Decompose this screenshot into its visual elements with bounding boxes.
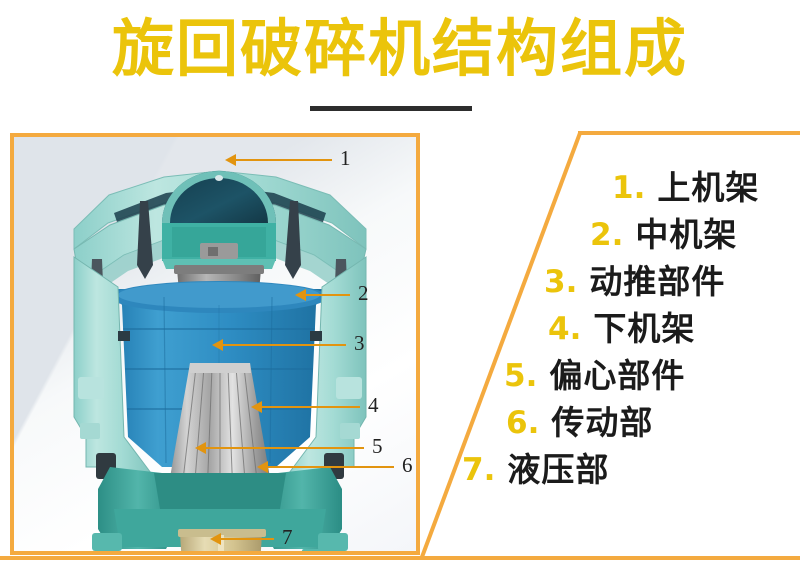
title-underline: [310, 106, 472, 111]
list-item: 2.中机架: [440, 213, 785, 260]
callout-leader-line: [268, 466, 394, 468]
callout-number: 7: [282, 525, 293, 549]
callout-number: 4: [368, 393, 379, 417]
list-item: 7.液压部: [440, 448, 785, 495]
list-item-label: 中机架: [635, 213, 737, 257]
callout-arrow-icon: [225, 154, 236, 166]
list-item: 6.传动部: [440, 401, 785, 448]
callout-leader-line: [306, 294, 350, 296]
decor-bottom-line: [0, 556, 800, 560]
callout-leader-line: [223, 344, 346, 346]
list-item: 3.动推部件: [440, 260, 785, 307]
list-item-label: 液压部: [507, 448, 609, 492]
list-item: 4.下机架: [440, 307, 785, 354]
decor-top-line: [578, 131, 800, 135]
callout-leader-line: [236, 159, 332, 161]
callout-number: 3: [354, 331, 365, 355]
callout-number: 6: [402, 453, 413, 477]
list-item-number: 5.: [504, 354, 537, 398]
callout-arrow-icon: [195, 442, 206, 454]
callout-arrow-icon: [210, 533, 221, 545]
list-item-number: 6.: [506, 401, 539, 445]
callout-leader-line: [262, 406, 360, 408]
list-item: 1.上机架: [440, 166, 785, 213]
callout-number: 1: [340, 146, 351, 170]
list-item: 5.偏心部件: [440, 354, 785, 401]
page-title: 旋回破碎机结构组成: [0, 12, 800, 86]
callout-arrow-icon: [212, 339, 223, 351]
diagram-panel: 1234567: [10, 133, 420, 555]
list-item-number: 7.: [462, 448, 495, 492]
list-item-label: 传动部: [551, 401, 653, 445]
callout-leader-line: [221, 538, 274, 540]
list-item-number: 2.: [590, 213, 623, 257]
callout-arrow-icon: [257, 461, 268, 473]
callout-number: 5: [372, 434, 383, 458]
component-list: 1.上机架2.中机架3.动推部件4.下机架5.偏心部件6.传动部7.液压部: [440, 166, 785, 495]
callout-arrow-icon: [251, 401, 262, 413]
list-item-label: 下机架: [593, 307, 695, 351]
page-root: 旋回破碎机结构组成: [0, 0, 800, 567]
list-item-number: 4.: [548, 307, 581, 351]
callout-arrow-icon: [295, 289, 306, 301]
list-item-label: 动推部件: [589, 260, 725, 304]
callout-number: 2: [358, 281, 369, 305]
list-item-number: 3.: [544, 260, 577, 304]
callout-leader-line: [206, 447, 364, 449]
list-item-label: 偏心部件: [549, 354, 685, 398]
list-item-label: 上机架: [657, 166, 759, 210]
list-item-number: 1.: [612, 166, 645, 210]
